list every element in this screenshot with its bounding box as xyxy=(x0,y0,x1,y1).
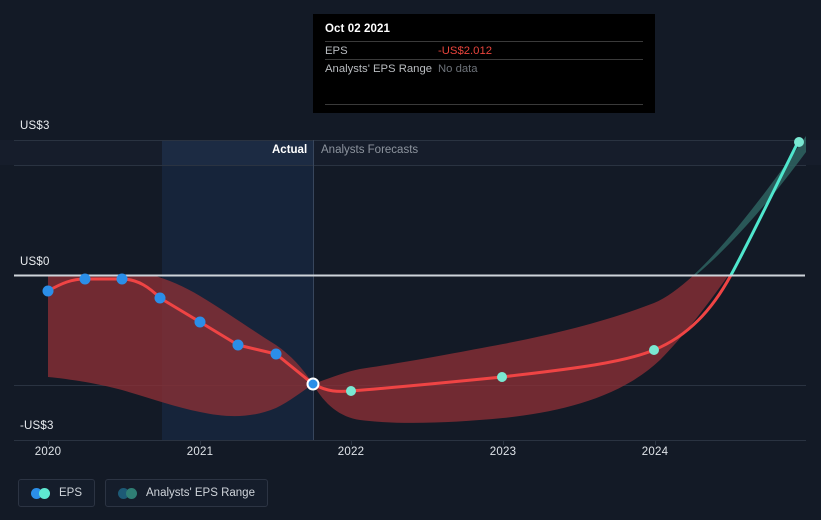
tooltip-key-range: Analysts' EPS Range xyxy=(325,63,438,75)
y-tick-label-n3: -US$3 xyxy=(20,420,54,432)
chart-legend: EPS Analysts' EPS Range xyxy=(18,479,268,507)
tooltip-key-eps: EPS xyxy=(325,45,438,57)
data-point[interactable] xyxy=(649,345,659,355)
legend-item-eps[interactable]: EPS xyxy=(18,479,95,507)
y-tick-label-3: US$3 xyxy=(20,120,50,132)
data-point[interactable] xyxy=(497,372,507,382)
legend-marker-eps-icon xyxy=(31,488,51,499)
data-point[interactable] xyxy=(233,340,244,351)
legend-item-analysts-range[interactable]: Analysts' EPS Range xyxy=(105,479,268,507)
legend-label-eps: EPS xyxy=(59,487,82,499)
tooltip-value-eps: -US$2.012 xyxy=(438,45,492,57)
data-point[interactable] xyxy=(346,386,356,396)
tooltip-row-eps: EPS -US$2.012 xyxy=(325,41,643,59)
x-tick-label-2023: 2023 xyxy=(490,446,516,458)
tooltip-value-range: No data xyxy=(438,63,478,75)
x-tick-label-2024: 2024 xyxy=(642,446,668,458)
legend-label-analysts-range: Analysts' EPS Range xyxy=(146,487,255,499)
tooltip-footer-rule xyxy=(325,104,643,105)
x-tick-label-2022: 2022 xyxy=(338,446,364,458)
legend-marker-range-icon xyxy=(118,488,138,499)
tooltip-spacer xyxy=(325,77,643,104)
x-tick-label-2021: 2021 xyxy=(187,446,213,458)
analysts-range-band-negative xyxy=(48,143,806,423)
data-point[interactable] xyxy=(80,274,91,285)
y-tick-label-0: US$0 xyxy=(20,256,50,268)
data-point[interactable] xyxy=(43,286,54,297)
tooltip-row-range: Analysts' EPS Range No data xyxy=(325,59,643,77)
segment-label-forecast: Analysts Forecasts xyxy=(321,144,418,156)
data-point[interactable] xyxy=(117,274,128,285)
data-point[interactable] xyxy=(271,349,282,360)
data-point[interactable] xyxy=(195,317,206,328)
selected-data-point[interactable] xyxy=(308,379,319,390)
chart-tooltip: Oct 02 2021 EPS -US$2.012 Analysts' EPS … xyxy=(313,14,655,113)
data-point[interactable] xyxy=(155,293,166,304)
chart-root: US$3 US$0 -US$3 Actual Analysts Forecast… xyxy=(0,0,821,520)
tooltip-date: Oct 02 2021 xyxy=(325,23,643,41)
segment-label-actual: Actual xyxy=(272,144,307,156)
x-tick-label-2020: 2020 xyxy=(35,446,61,458)
data-point[interactable] xyxy=(794,137,804,147)
